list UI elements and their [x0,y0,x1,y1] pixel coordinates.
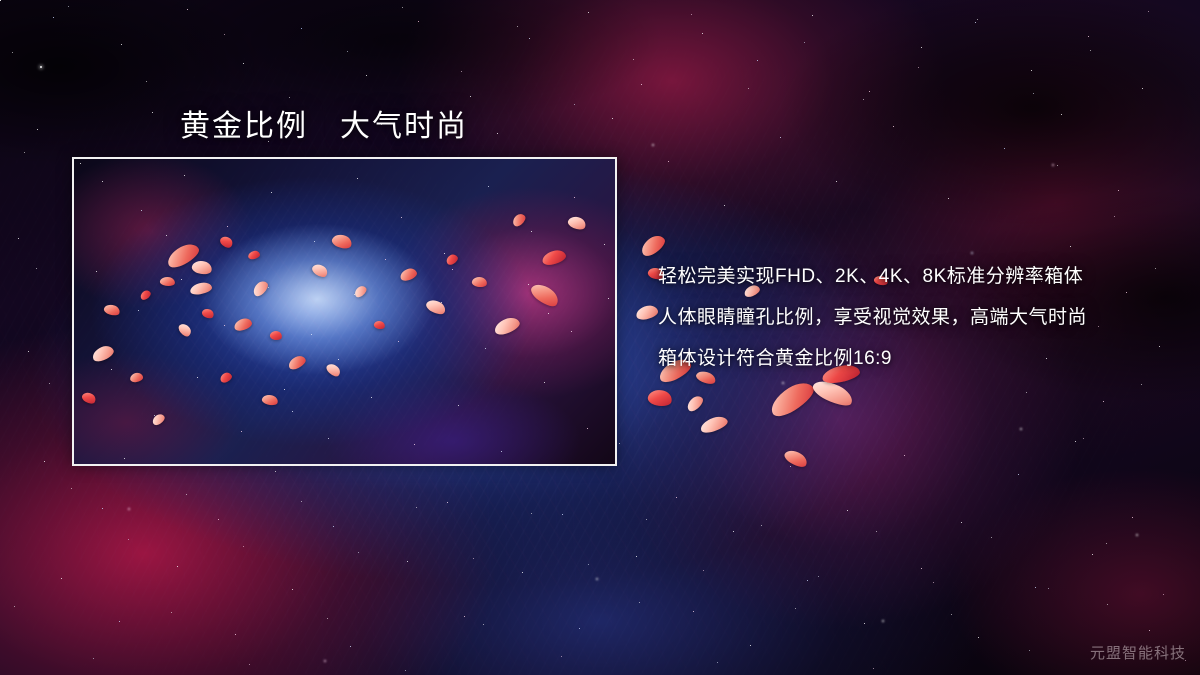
presentation-slide: 黄金比例 大气时尚 [0,0,1200,675]
photo-content [74,159,615,464]
body-line-1: 轻松完美实现FHD、2K、4K、8K标准分辨率箱体 [658,256,1087,297]
body-line-3: 箱体设计符合黄金比例16:9 [658,338,1087,379]
galaxy-petals-photo-frame [72,157,617,466]
body-line-2: 人体眼睛瞳孔比例，享受视觉效果，高端大气时尚 [658,297,1087,338]
starfield-medium [0,0,1,1]
body-text-block: 轻松完美实现FHD、2K、4K、8K标准分辨率箱体 人体眼睛瞳孔比例，享受视觉效… [658,256,1087,379]
petal [638,232,668,259]
starfield-small [0,0,1,1]
petal [782,447,809,470]
petal [635,304,659,321]
petal [766,377,818,421]
petal [647,388,674,409]
petal [699,414,730,435]
page-title: 黄金比例 大气时尚 [180,101,468,145]
watermark: 元盟智能科技 [1090,642,1186,663]
starfield-bright [40,66,42,68]
petal [685,394,706,414]
photo-starfield [80,163,81,164]
